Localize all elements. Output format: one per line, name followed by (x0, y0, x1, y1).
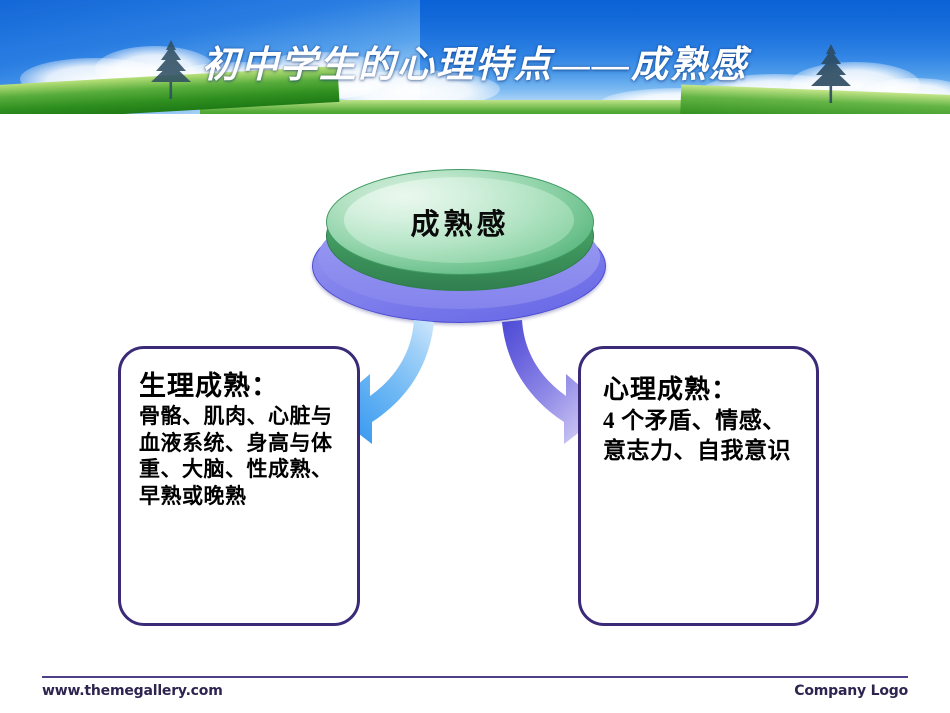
footer-divider (42, 676, 908, 678)
header-banner: 初中学生的心理特点——成熟感 (0, 0, 950, 114)
footer-company-logo-label: Company Logo (794, 683, 908, 699)
footer-website-link[interactable]: www.themegallery.com (42, 683, 223, 699)
info-box-heading: 生理成熟： (139, 371, 341, 401)
page-title: 初中学生的心理特点——成熟感 (0, 0, 950, 114)
info-box-content: 生理成熟： 骨骼、肌肉、心脏与血液系统、身高与体重、大脑、性成熟、早熟或晚熟 (121, 349, 357, 509)
center-node-label: 成熟感 (312, 163, 608, 281)
center-node[interactable]: 成熟感 (312, 163, 608, 323)
info-box-physiological-maturity[interactable]: 生理成熟： 骨骼、肌肉、心脏与血液系统、身高与体重、大脑、性成熟、早熟或晚熟 (118, 346, 360, 626)
slide-canvas: 初中学生的心理特点——成熟感 成熟感 (0, 0, 950, 713)
info-box-heading: 心理成熟： (603, 375, 802, 404)
info-box-body: 4 个矛盾、情感、意志力、自我意识 (603, 406, 802, 467)
info-box-psychological-maturity[interactable]: 心理成熟： 4 个矛盾、情感、意志力、自我意识 (578, 346, 819, 626)
info-box-content: 心理成熟： 4 个矛盾、情感、意志力、自我意识 (581, 349, 816, 467)
info-box-body: 骨骼、肌肉、心脏与血液系统、身高与体重、大脑、性成熟、早熟或晚熟 (139, 403, 341, 509)
